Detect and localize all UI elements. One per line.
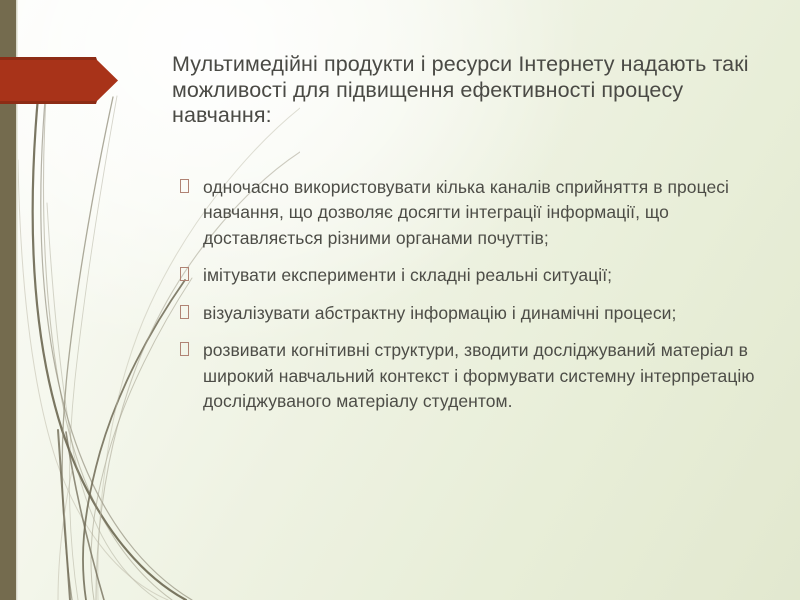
bullet-item: одночасно використовувати кілька каналів… [172,175,772,252]
bullet-box-icon [180,267,189,281]
bullet-text: імітувати експерименти і складні реальні… [203,265,612,285]
bullet-box-icon [180,342,189,356]
bullet-item: розвивати когнітивні структури, зводити … [172,338,772,415]
bullet-text: одночасно використовувати кілька каналів… [203,177,729,248]
slide-title: Мультимедійні продукти і ресурси Інтерне… [172,52,772,129]
presentation-slide: Мультимедійні продукти і ресурси Інтерне… [0,0,800,600]
bullet-text: візуалізувати абстрактну інформацію і ди… [203,303,676,323]
bullet-text: розвивати когнітивні структури, зводити … [203,340,755,411]
red-arrow-banner [0,57,119,104]
bullet-box-icon [180,305,189,319]
bullet-box-icon [180,179,189,193]
slide-content: Мультимедійні продукти і ресурси Інтерне… [172,52,772,427]
bullet-item: візуалізувати абстрактну інформацію і ди… [172,301,772,327]
bullet-item: імітувати експерименти і складні реальні… [172,263,772,289]
bullet-list: одночасно використовувати кілька каналів… [172,175,772,415]
